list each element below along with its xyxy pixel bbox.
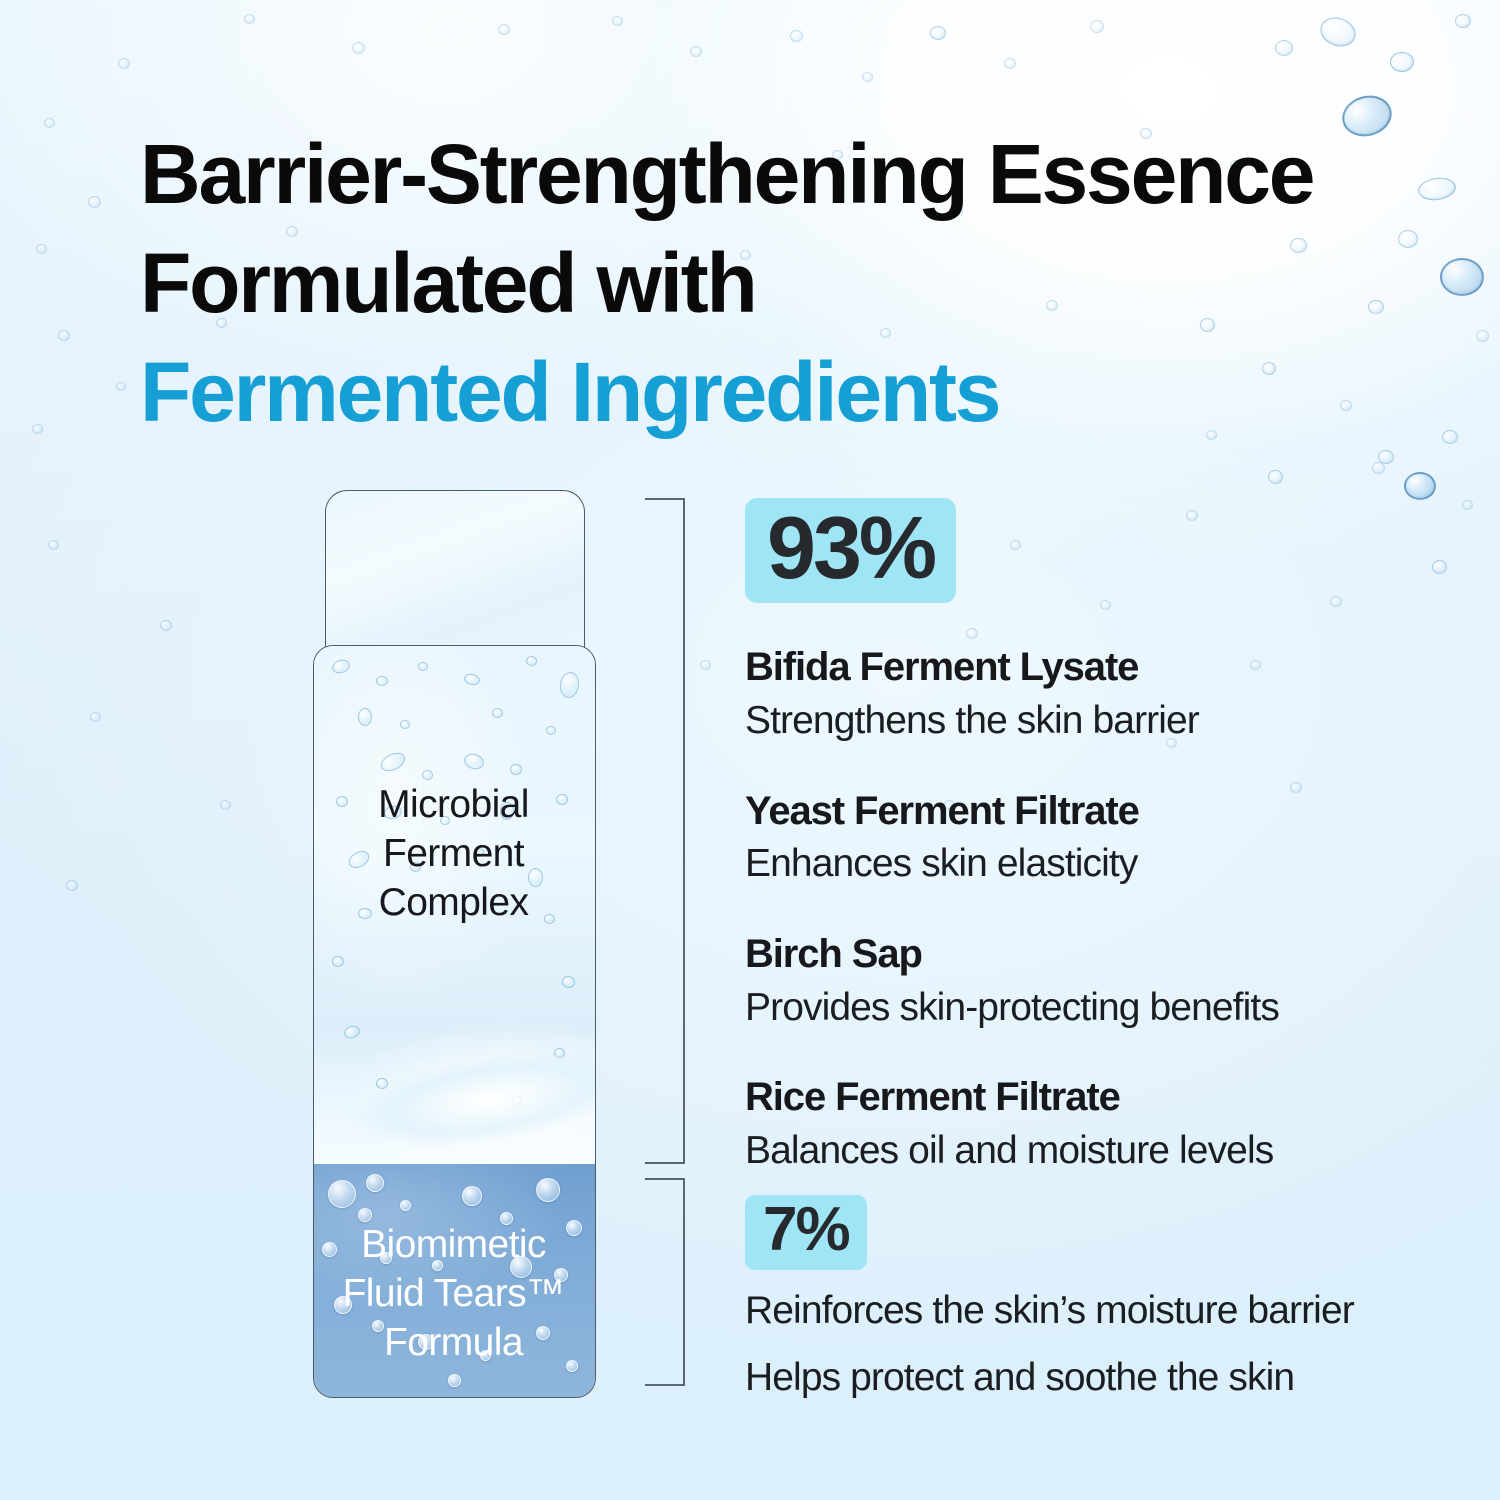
ingredient-desc: Balances oil and moisture levels: [745, 1126, 1425, 1177]
bracket-primary: [645, 498, 685, 1164]
page-title: Barrier-Strengthening Essence Formulated…: [140, 120, 1440, 448]
bottle-upper-label-line-2: Ferment: [313, 829, 594, 878]
headline-line-3-accent: Fermented Ingredients: [140, 338, 1440, 447]
ingredient-desc: Enhances skin elasticity: [745, 839, 1425, 890]
bottle-lower-label-line-2: Fluid Tears™: [313, 1269, 594, 1318]
ingredient-name: Bifida Ferment Lysate: [745, 643, 1425, 692]
ingredient-list: Bifida Ferment Lysate Strengthens the sk…: [745, 643, 1425, 1177]
secondary-benefit-line: Helps protect and soothe the skin: [745, 1353, 1465, 1404]
bottle-upper-label-line-1: Microbial: [313, 780, 594, 829]
bracket-secondary: [645, 1178, 685, 1386]
primary-ingredient-section: 93% Bifida Ferment Lysate Strengthens th…: [745, 498, 1425, 1177]
ingredient-name: Yeast Ferment Filtrate: [745, 787, 1425, 836]
bottle-upper-label: Microbial Ferment Complex: [313, 780, 594, 927]
headline-line-1: Barrier-Strengthening Essence: [140, 120, 1440, 229]
list-item: Rice Ferment Filtrate Balances oil and m…: [745, 1073, 1425, 1176]
product-bottle-graphic: Microbial Ferment Complex Biomimetic Flu…: [313, 490, 594, 1396]
infographic-canvas: Barrier-Strengthening Essence Formulated…: [0, 0, 1500, 1500]
list-item: Yeast Ferment Filtrate Enhances skin ela…: [745, 787, 1425, 890]
secondary-benefit-line: Reinforces the skin’s moisture barrier: [745, 1286, 1465, 1337]
percent-badge-7: 7%: [745, 1195, 867, 1270]
list-item: Bifida Ferment Lysate Strengthens the sk…: [745, 643, 1425, 746]
bottle-lower-label-line-1: Biomimetic: [313, 1220, 594, 1269]
ingredient-name: Rice Ferment Filtrate: [745, 1073, 1425, 1122]
secondary-ingredient-section: 7% Reinforces the skin’s moisture barrie…: [745, 1195, 1465, 1403]
list-item: Birch Sap Provides skin-protecting benef…: [745, 930, 1425, 1033]
ingredient-desc: Strengthens the skin barrier: [745, 696, 1425, 747]
bottle-upper-label-line-3: Complex: [313, 878, 594, 927]
headline-line-2: Formulated with: [140, 229, 1440, 338]
bottle-cap: [325, 490, 585, 659]
ingredient-name: Birch Sap: [745, 930, 1425, 979]
bottle-lower-label: Biomimetic Fluid Tears™ Formula: [313, 1220, 594, 1367]
percent-badge-93: 93%: [745, 498, 956, 603]
ingredient-desc: Provides skin-protecting benefits: [745, 983, 1425, 1034]
bottle-lower-label-line-3: Formula: [313, 1318, 594, 1367]
